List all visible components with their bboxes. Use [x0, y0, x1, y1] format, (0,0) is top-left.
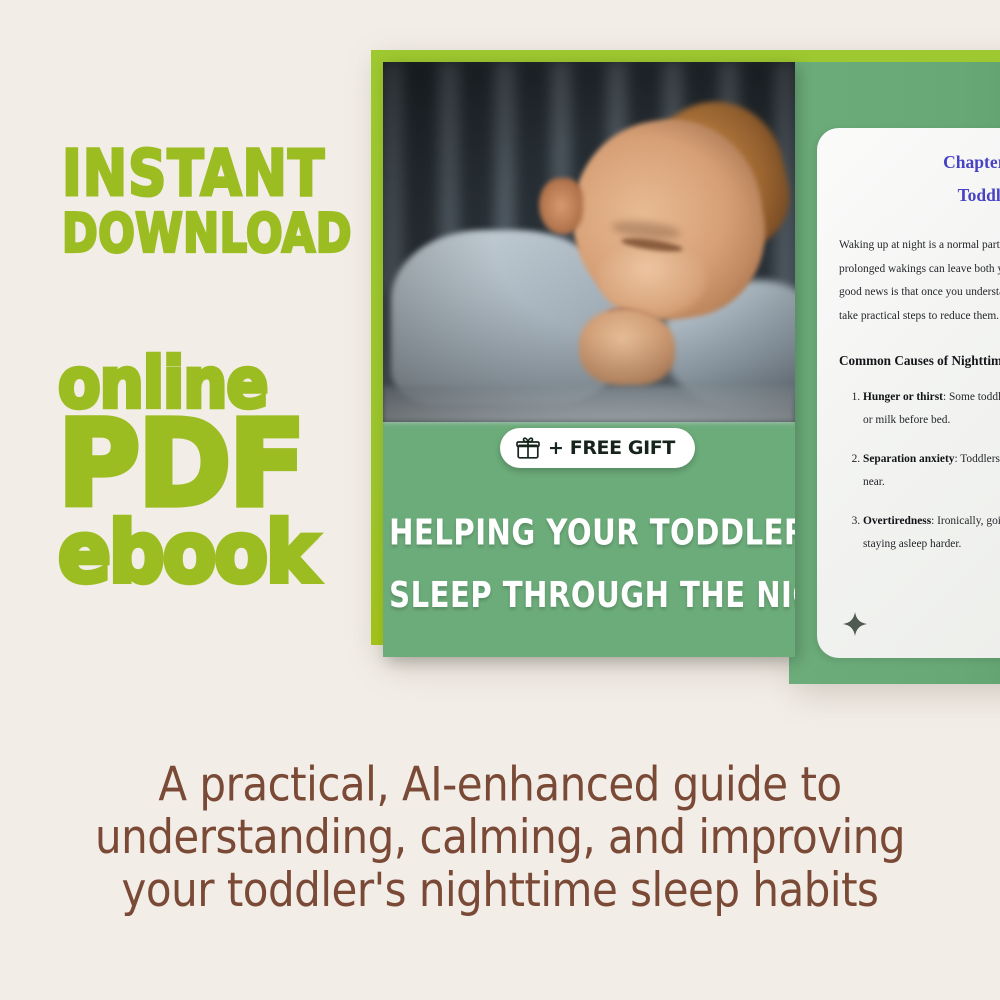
cover-title-line1: HELPING YOUR TODDLER [389, 502, 789, 565]
cover-photo [383, 62, 795, 422]
chapter-paragraph: Waking up at night is a normal part of e… [839, 234, 1000, 328]
cover-title-line2: SLEEP THROUGH THE NIGHT [389, 565, 789, 628]
free-gift-label: + FREE GIFT [548, 437, 675, 459]
chapter-subheading: Common Causes of Nighttime Waking [839, 353, 1000, 369]
tagline-line2: understanding, calming, and improving [0, 811, 1000, 864]
ebook-label: ebook [58, 518, 358, 589]
pdf-label: PDF [58, 414, 358, 515]
causes-list: Hunger or thirst: Some toddlers still ne… [839, 386, 1000, 556]
instant-label: INSTANT [62, 146, 368, 202]
tagline-line3: your toddler's nighttime sleep habits [0, 863, 1000, 916]
interior-page-content: Chapter 1. Unde Toddlers Wa Waking up at… [817, 128, 1000, 658]
free-gift-badge[interactable]: + FREE GIFT [500, 428, 695, 468]
ebook-mockup: Chapter 1. Unde Toddlers Wa Waking up at… [371, 50, 1000, 645]
list-item-term: Separation anxiety [863, 453, 954, 465]
chapter-heading-line2: Toddlers Wa [835, 187, 1000, 205]
photo-vignette [383, 62, 795, 422]
list-item-term: Hunger or thirst [863, 391, 943, 403]
book-cover: + FREE GIFT HELPING YOUR TODDLER SLEEP T… [383, 62, 795, 657]
gift-icon [516, 436, 540, 460]
chapter-heading-line1: Chapter 1. Unde [943, 152, 1000, 172]
list-item: Overtiredness: Ironically, going to bed … [863, 510, 1000, 556]
tagline-line1: A practical, AI-enhanced guide to [0, 758, 1000, 811]
list-item: Separation anxiety: Toddlers may wake to… [863, 448, 1000, 494]
list-item-term: Overtiredness [863, 515, 931, 527]
promo-graphic: INSTANT DOWNLOAD online PDF ebook Chapte… [0, 0, 1000, 1000]
interior-page-card: Chapter 1. Unde Toddlers Wa Waking up at… [817, 128, 1000, 658]
instant-download-block: INSTANT DOWNLOAD [62, 146, 362, 249]
cover-title: HELPING YOUR TODDLER SLEEP THROUGH THE N… [389, 502, 789, 627]
format-block: online PDF ebook [58, 352, 358, 584]
tagline: A practical, AI-enhanced guide to unders… [0, 758, 1000, 916]
sparkle-icon [843, 612, 867, 636]
download-label: DOWNLOAD [62, 209, 362, 259]
chapter-heading: Chapter 1. Unde Toddlers Wa [835, 154, 1000, 204]
list-item: Hunger or thirst: Some toddlers still ne… [863, 386, 1000, 432]
